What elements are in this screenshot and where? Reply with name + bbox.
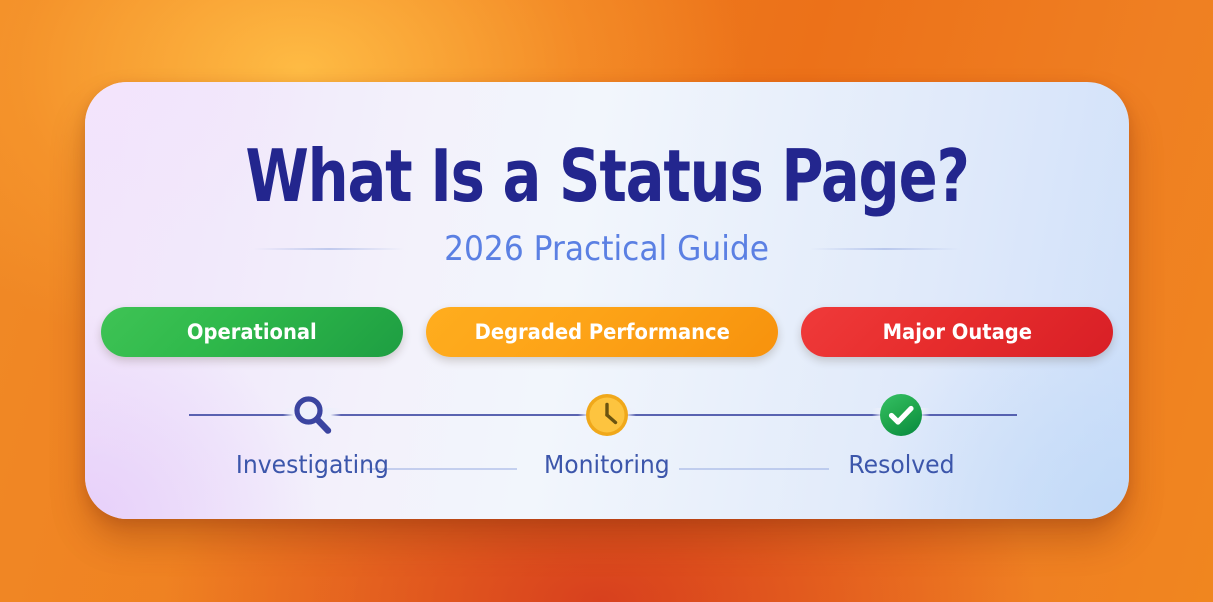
- subtitle-rule-right: [810, 248, 960, 250]
- status-badge-operational-label: Operational: [187, 320, 317, 344]
- page-title: What Is a Status Page?: [189, 140, 1024, 212]
- status-badge-major-outage-label: Major Outage: [882, 320, 1031, 344]
- status-page-card: What Is a Status Page? 2026 Practical Gu…: [85, 82, 1129, 519]
- clock-icon: [584, 392, 630, 438]
- timeline-step-monitoring-label: Monitoring: [544, 450, 670, 479]
- incident-timeline: Investigating Monitoring: [189, 392, 1017, 492]
- timeline-step-resolved[interactable]: Resolved: [811, 392, 991, 479]
- status-badge-degraded[interactable]: Degraded Performance: [426, 307, 778, 357]
- page-subtitle: 2026 Practical Guide: [445, 229, 770, 269]
- poster-background: What Is a Status Page? 2026 Practical Gu…: [0, 0, 1213, 602]
- timeline-step-investigating[interactable]: Investigating: [222, 392, 402, 479]
- magnifying-glass-icon: [289, 392, 335, 438]
- check-circle-icon: [878, 392, 924, 438]
- status-badge-operational[interactable]: Operational: [101, 307, 403, 357]
- status-badge-degraded-label: Degraded Performance: [474, 320, 729, 344]
- status-badge-group: Operational Degraded Performance Major O…: [85, 307, 1129, 357]
- timeline-step-monitoring[interactable]: Monitoring: [517, 392, 697, 479]
- timeline-step-resolved-label: Resolved: [848, 450, 954, 479]
- subtitle-rule-left: [254, 248, 404, 250]
- status-badge-major-outage[interactable]: Major Outage: [801, 307, 1113, 357]
- subtitle-row: 2026 Practical Guide: [85, 229, 1129, 269]
- timeline-step-investigating-label: Investigating: [235, 450, 388, 479]
